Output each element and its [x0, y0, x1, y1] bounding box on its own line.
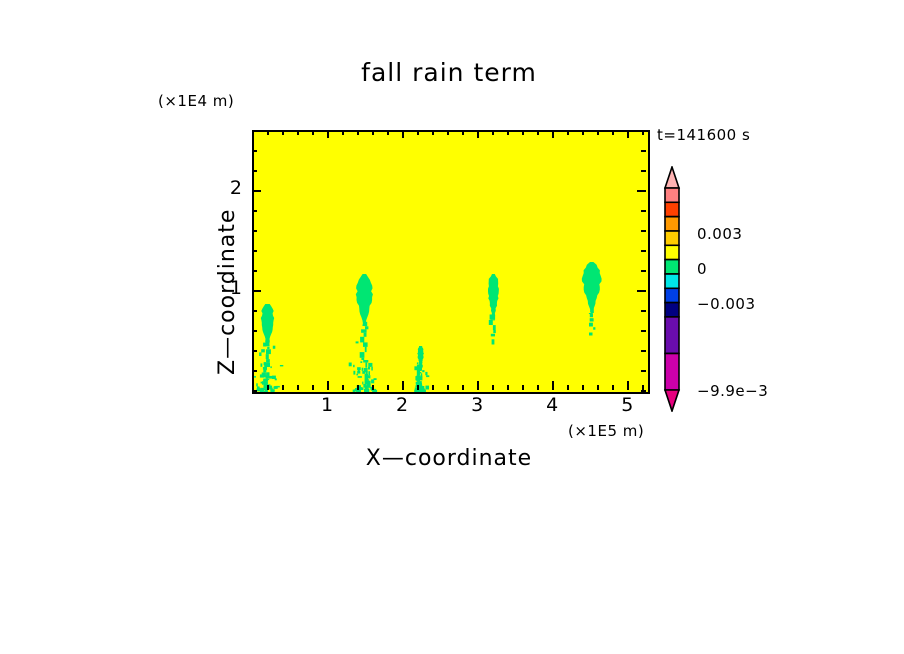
axis-tick — [641, 330, 646, 332]
axis-tick — [297, 130, 299, 135]
contour-patch — [361, 358, 364, 360]
x-tick-label: 1 — [307, 394, 347, 416]
axis-tick — [537, 385, 539, 390]
colorbar-label: 0 — [697, 260, 707, 278]
axis-tick — [342, 130, 344, 135]
colorbar-band — [665, 288, 679, 302]
axis-tick — [641, 230, 646, 232]
contour-patch — [368, 375, 371, 378]
axis-tick — [252, 250, 257, 252]
contour-patch — [261, 363, 263, 366]
contour-patch — [271, 389, 275, 391]
axis-tick — [612, 385, 614, 390]
contour-patch — [371, 367, 373, 371]
axis-tick — [312, 385, 314, 390]
contour-patch — [366, 379, 369, 381]
axis-tick — [297, 385, 299, 390]
axis-tick — [507, 385, 509, 390]
colorbar-band — [665, 202, 679, 216]
axis-tick — [567, 385, 569, 390]
y-tick-label: 1 — [214, 277, 242, 299]
axis-tick — [432, 130, 434, 135]
axis-tick — [627, 381, 629, 390]
contour-patch — [356, 374, 358, 376]
axis-tick — [642, 130, 644, 135]
axis-tick — [327, 381, 329, 390]
contour-patch — [264, 386, 267, 388]
axis-tick — [637, 190, 646, 192]
axis-tick — [641, 310, 646, 312]
contour-patch — [492, 339, 495, 344]
plot-area — [252, 130, 650, 394]
axis-tick — [267, 130, 269, 135]
axis-tick — [492, 130, 494, 135]
contour-patch — [259, 352, 261, 356]
contour-patch — [254, 376, 256, 378]
contour-patch — [493, 325, 496, 330]
contour-patch — [417, 362, 419, 364]
axis-tick — [327, 130, 329, 138]
axis-tick — [417, 385, 419, 390]
contour-field — [254, 132, 648, 392]
contour-patch — [360, 352, 365, 358]
contour-patch — [274, 386, 276, 389]
x-tick-label: 4 — [532, 394, 572, 416]
axis-tick — [252, 230, 257, 232]
axis-tick — [402, 381, 404, 390]
contour-patch — [373, 391, 377, 392]
contour-patch — [364, 389, 367, 392]
contour-patch — [260, 374, 264, 377]
contour-patch — [418, 366, 422, 368]
contour-patch — [280, 365, 283, 366]
contour-patch — [589, 333, 593, 336]
axis-tick — [252, 330, 257, 332]
axis-tick — [507, 130, 509, 135]
axis-tick — [537, 130, 539, 135]
x-tick-label: 5 — [607, 394, 647, 416]
contour-patch — [272, 376, 276, 379]
contour-patch — [267, 379, 270, 380]
contour-patch — [264, 369, 267, 370]
contour-patch — [364, 333, 367, 337]
contour-patch — [425, 372, 427, 375]
axis-tick — [252, 210, 257, 212]
axis-tick — [357, 130, 359, 135]
axis-tick — [267, 385, 269, 390]
contour-patch — [363, 342, 368, 347]
contour-patch — [368, 371, 370, 375]
contour-patch — [266, 354, 269, 359]
axis-tick — [641, 250, 646, 252]
colorbar-band — [665, 317, 679, 354]
x-tick-label: 3 — [457, 394, 497, 416]
y-axis-units-label: (×1E4 m) — [158, 92, 234, 110]
contour-patch — [365, 374, 368, 380]
contour-patch — [365, 326, 368, 329]
colorbar-arrow-bottom — [665, 390, 679, 411]
axis-tick — [432, 385, 434, 390]
colorbar-band — [665, 217, 679, 231]
contour-patch — [368, 367, 370, 370]
contour-patch — [265, 375, 267, 376]
axis-tick — [477, 130, 479, 138]
colorbar-band — [665, 260, 679, 274]
axis-tick — [597, 385, 599, 390]
contour-patch — [490, 315, 496, 320]
contour-patch — [422, 370, 424, 372]
colorbar-label: −0.003 — [697, 295, 756, 313]
axis-tick — [252, 170, 257, 172]
contour-patch — [364, 368, 368, 372]
contour-patch — [260, 388, 264, 392]
axis-tick — [462, 385, 464, 390]
contour-patch — [263, 379, 267, 381]
axis-tick — [387, 385, 389, 390]
contour-patch — [593, 327, 595, 330]
axis-tick — [402, 130, 404, 138]
contour-patch — [362, 382, 363, 385]
colorbar-band — [665, 303, 679, 317]
contour-patch — [358, 376, 362, 378]
colorbar-band — [665, 354, 679, 391]
axis-tick — [612, 130, 614, 135]
colorbar-band — [665, 274, 679, 288]
time-annotation: t=141600 s — [657, 126, 750, 144]
axis-tick — [637, 290, 646, 292]
colorbar-arrow-top — [665, 167, 679, 188]
contour-patch — [367, 381, 371, 385]
contour-patch — [357, 371, 360, 374]
axis-tick — [252, 310, 257, 312]
contour-patch — [349, 363, 352, 367]
contour-patch — [421, 373, 422, 377]
contour-patch — [426, 375, 429, 377]
page-title: fall rain term — [252, 58, 646, 87]
colorbar-band — [665, 245, 679, 259]
contour-patch — [417, 372, 421, 374]
axis-tick — [552, 130, 554, 138]
axis-tick — [252, 370, 257, 372]
axis-tick — [641, 170, 646, 172]
contour-patch — [360, 337, 364, 343]
contour-patch — [421, 389, 424, 392]
y-tick-label: 2 — [214, 177, 242, 199]
x-axis-units-label: (×1E5 m) — [568, 422, 644, 440]
axis-tick — [641, 210, 646, 212]
axis-tick — [627, 130, 629, 138]
axis-tick — [582, 385, 584, 390]
axis-tick — [522, 130, 524, 135]
axis-tick — [552, 381, 554, 390]
axis-tick — [462, 130, 464, 135]
axis-tick — [282, 130, 284, 135]
contour-patch — [589, 313, 593, 314]
axis-tick — [252, 130, 254, 135]
colorbar — [659, 166, 691, 412]
axis-tick — [641, 390, 646, 392]
contour-patch — [363, 360, 368, 363]
x-tick-label: 2 — [382, 394, 422, 416]
colorbar-band — [665, 231, 679, 245]
contour-patch — [353, 371, 355, 375]
axis-tick — [282, 385, 284, 390]
contour-patch — [360, 361, 362, 363]
x-axis-title: X—coordinate — [252, 446, 646, 471]
axis-tick — [567, 130, 569, 135]
contour-patch — [270, 366, 271, 368]
contour-patch — [493, 330, 496, 333]
contour-patch — [426, 386, 430, 390]
axis-tick — [641, 370, 646, 372]
contour-patch — [365, 363, 367, 368]
contour-patch — [365, 387, 367, 389]
axis-tick — [387, 130, 389, 135]
contour-patch — [356, 341, 359, 343]
axis-tick — [252, 290, 261, 292]
axis-tick — [492, 385, 494, 390]
contour-patch — [365, 347, 367, 352]
contour-patch — [354, 390, 355, 392]
axis-tick — [597, 130, 599, 135]
contour-patch — [267, 372, 269, 376]
contour-patch — [254, 132, 648, 392]
axis-tick — [252, 350, 257, 352]
contour-patch — [262, 381, 264, 385]
contour-patch — [259, 388, 260, 390]
colorbar-label: 0.003 — [697, 225, 742, 243]
axis-tick — [252, 270, 257, 272]
contour-patch — [418, 380, 420, 383]
contour-patch — [590, 314, 593, 317]
figure-canvas: fall rain term (×1E4 m) (×1E5 m) X—coord… — [0, 0, 904, 654]
contour-patch — [420, 370, 422, 371]
axis-tick — [641, 270, 646, 272]
contour-patch — [266, 359, 270, 363]
contour-patch — [267, 347, 269, 350]
contour-patch — [364, 322, 367, 326]
contour-patch — [491, 334, 495, 337]
axis-tick — [252, 150, 257, 152]
axis-tick — [252, 390, 257, 392]
axis-tick — [447, 130, 449, 135]
contour-patch — [589, 323, 593, 327]
axis-tick — [342, 385, 344, 390]
contour-patch — [371, 379, 374, 383]
contour-patch — [591, 308, 594, 313]
contour-patch — [368, 363, 372, 367]
axis-tick — [252, 190, 261, 192]
axis-tick — [641, 350, 646, 352]
axis-tick — [372, 385, 374, 390]
contour-patch — [261, 349, 265, 352]
colorbar-bands — [659, 166, 691, 412]
contour-patch — [414, 366, 417, 370]
axis-tick — [417, 130, 419, 135]
axis-tick — [447, 385, 449, 390]
contour-patch — [362, 368, 364, 371]
contour-patch — [269, 386, 272, 390]
colorbar-label: −9.9e−3 — [697, 382, 768, 400]
axis-tick — [312, 130, 314, 135]
contour-patch — [256, 383, 258, 386]
axis-tick — [582, 130, 584, 135]
contour-patch — [263, 343, 267, 347]
contour-patch — [266, 349, 271, 354]
axis-tick — [477, 381, 479, 390]
axis-tick — [641, 150, 646, 152]
contour-patch — [361, 329, 367, 333]
contour-patch — [353, 365, 355, 367]
axis-tick — [522, 385, 524, 390]
contour-patch — [415, 376, 418, 380]
contour-patch — [590, 318, 594, 321]
contour-patch — [264, 362, 266, 365]
contour-patch — [489, 320, 493, 325]
colorbar-band — [665, 188, 679, 202]
contour-patch — [273, 346, 276, 349]
axis-tick — [357, 385, 359, 390]
axis-tick — [372, 130, 374, 135]
